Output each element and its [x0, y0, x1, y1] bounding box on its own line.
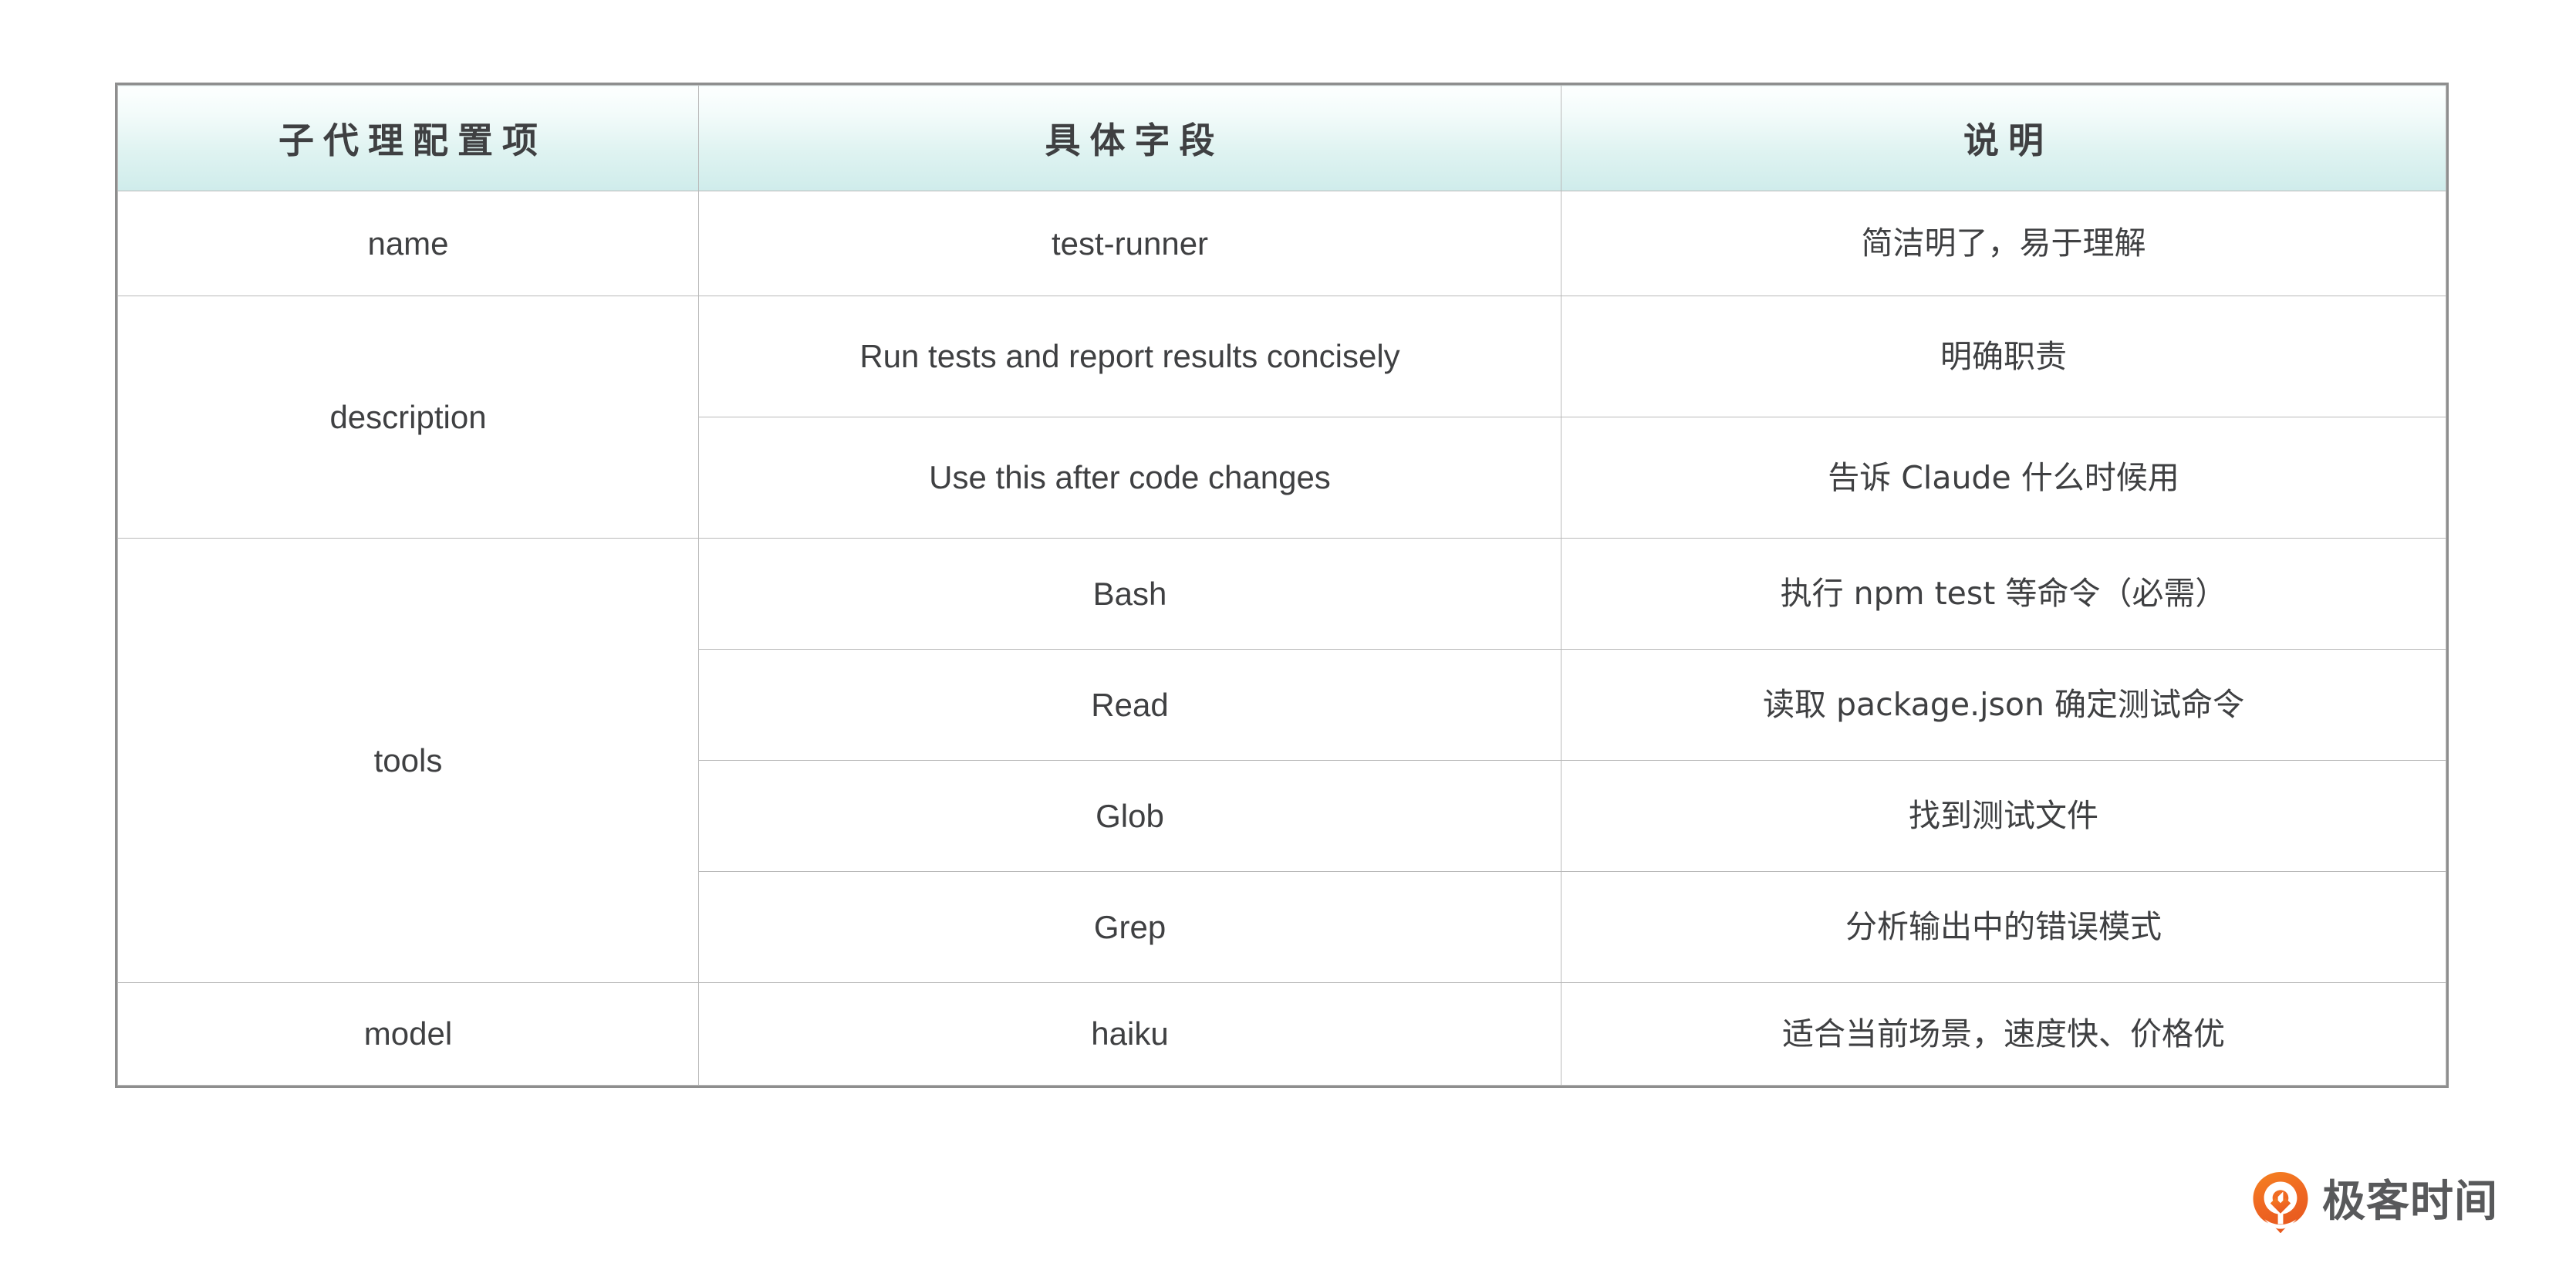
- geekbang-pin-icon: [2251, 1171, 2310, 1233]
- subagent-config-table: 子代理配置项 具体字段 说明 name test-runner 简洁明了，易于理…: [117, 85, 2446, 1086]
- field-tool-bash: Bash: [699, 539, 1561, 650]
- slide-canvas: 子代理配置项 具体字段 说明 name test-runner 简洁明了，易于理…: [0, 0, 2576, 1287]
- column-header-field: 具体字段: [699, 86, 1561, 191]
- note-tool-bash: 执行 npm test 等命令（必需）: [1561, 539, 2446, 650]
- table-body: name test-runner 简洁明了，易于理解 description R…: [118, 191, 2446, 1086]
- field-tool-grep: Grep: [699, 872, 1561, 983]
- header-row: 子代理配置项 具体字段 说明: [118, 86, 2446, 191]
- note-model: 适合当前场景，速度快、价格优: [1561, 983, 2446, 1086]
- column-header-config-item: 子代理配置项: [118, 86, 699, 191]
- field-tool-glob: Glob: [699, 761, 1561, 872]
- config-item-tools: tools: [118, 539, 699, 983]
- field-model-haiku: haiku: [699, 983, 1561, 1086]
- table-row: description Run tests and report results…: [118, 296, 2446, 417]
- config-item-description: description: [118, 296, 699, 539]
- note-tool-grep: 分析输出中的错误模式: [1561, 872, 2446, 983]
- brand-name: 极客时间: [2322, 1181, 2498, 1224]
- table-row: name test-runner 简洁明了，易于理解: [118, 191, 2446, 296]
- config-item-name: name: [118, 191, 699, 296]
- note-description-duty: 明确职责: [1561, 296, 2446, 417]
- note-tool-read: 读取 package.json 确定测试命令: [1561, 650, 2446, 761]
- note-description-when: 告诉 Claude 什么时候用: [1561, 417, 2446, 539]
- field-tool-read: Read: [699, 650, 1561, 761]
- note-name: 简洁明了，易于理解: [1561, 191, 2446, 296]
- table-row: tools Bash 执行 npm test 等命令（必需）: [118, 539, 2446, 650]
- brand-watermark: 极客时间: [2251, 1171, 2498, 1233]
- field-description-use-after: Use this after code changes: [699, 417, 1561, 539]
- config-item-model: model: [118, 983, 699, 1086]
- table-row: model haiku 适合当前场景，速度快、价格优: [118, 983, 2446, 1086]
- field-description-run-tests: Run tests and report results concisely: [699, 296, 1561, 417]
- field-test-runner: test-runner: [699, 191, 1561, 296]
- column-header-description: 说明: [1561, 86, 2446, 191]
- table-header: 子代理配置项 具体字段 说明: [118, 86, 2446, 191]
- note-tool-glob: 找到测试文件: [1561, 761, 2446, 872]
